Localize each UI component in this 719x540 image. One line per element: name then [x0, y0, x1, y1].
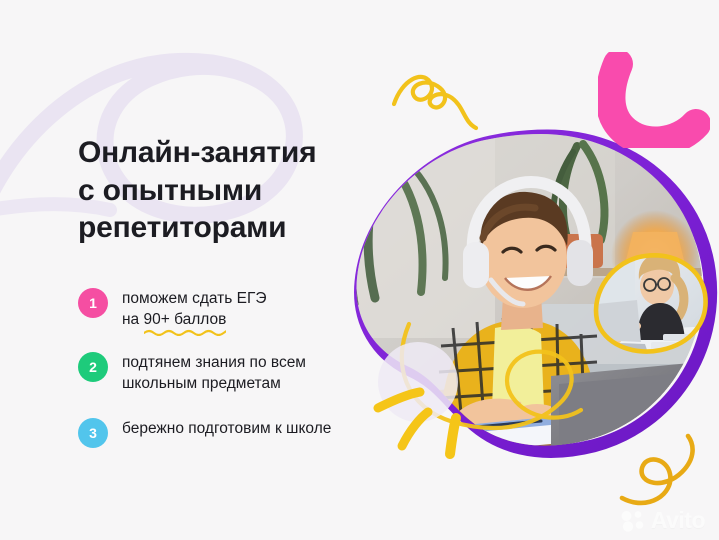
- feature-text-3: бережно подготовим к школе: [122, 418, 331, 440]
- headline-line-3: репетиторами: [78, 209, 378, 247]
- feature-2-line-2: школьным предметам: [122, 374, 306, 395]
- list-item: 2 подтянем знания по всем школьным предм…: [78, 352, 408, 394]
- feature-1-highlight-text: 90+ баллов: [144, 311, 227, 328]
- headline-line-2: с опытными: [78, 172, 378, 210]
- feature-1-line-1: поможем сдать ЕГЭ: [122, 289, 267, 310]
- list-item: 1 поможем сдать ЕГЭ на 90+ баллов: [78, 288, 408, 330]
- feature-1-line-2: на 90+ баллов: [122, 310, 267, 331]
- feature-badge-2: 2: [78, 352, 108, 382]
- avito-wordmark: Avito: [651, 509, 705, 532]
- feature-text-2: подтянем знания по всем школьным предмет…: [122, 352, 306, 394]
- feature-badge-3: 3: [78, 418, 108, 448]
- headline-line-1: Онлайн-занятия: [78, 134, 378, 172]
- feature-badge-1: 1: [78, 288, 108, 318]
- feature-2-line-1: подтянем знания по всем: [122, 353, 306, 374]
- feature-3-line-1: бережно подготовим к школе: [122, 419, 331, 440]
- feature-list: 1 поможем сдать ЕГЭ на 90+ баллов 2 подт…: [78, 288, 408, 448]
- headline: Онлайн-занятия с опытными репетиторами: [78, 134, 378, 247]
- wavy-underline-icon: [144, 329, 227, 336]
- promo-banner: Онлайн-занятия с опытными репетиторами 1…: [0, 0, 719, 540]
- feature-1-prefix: на: [122, 311, 144, 328]
- avito-watermark: Avito: [620, 509, 705, 532]
- feature-1-highlight: 90+ баллов: [144, 310, 227, 331]
- list-item: 3 бережно подготовим к школе: [78, 418, 408, 448]
- avito-logo-icon: [620, 510, 646, 532]
- feature-text-1: поможем сдать ЕГЭ на 90+ баллов: [122, 288, 267, 330]
